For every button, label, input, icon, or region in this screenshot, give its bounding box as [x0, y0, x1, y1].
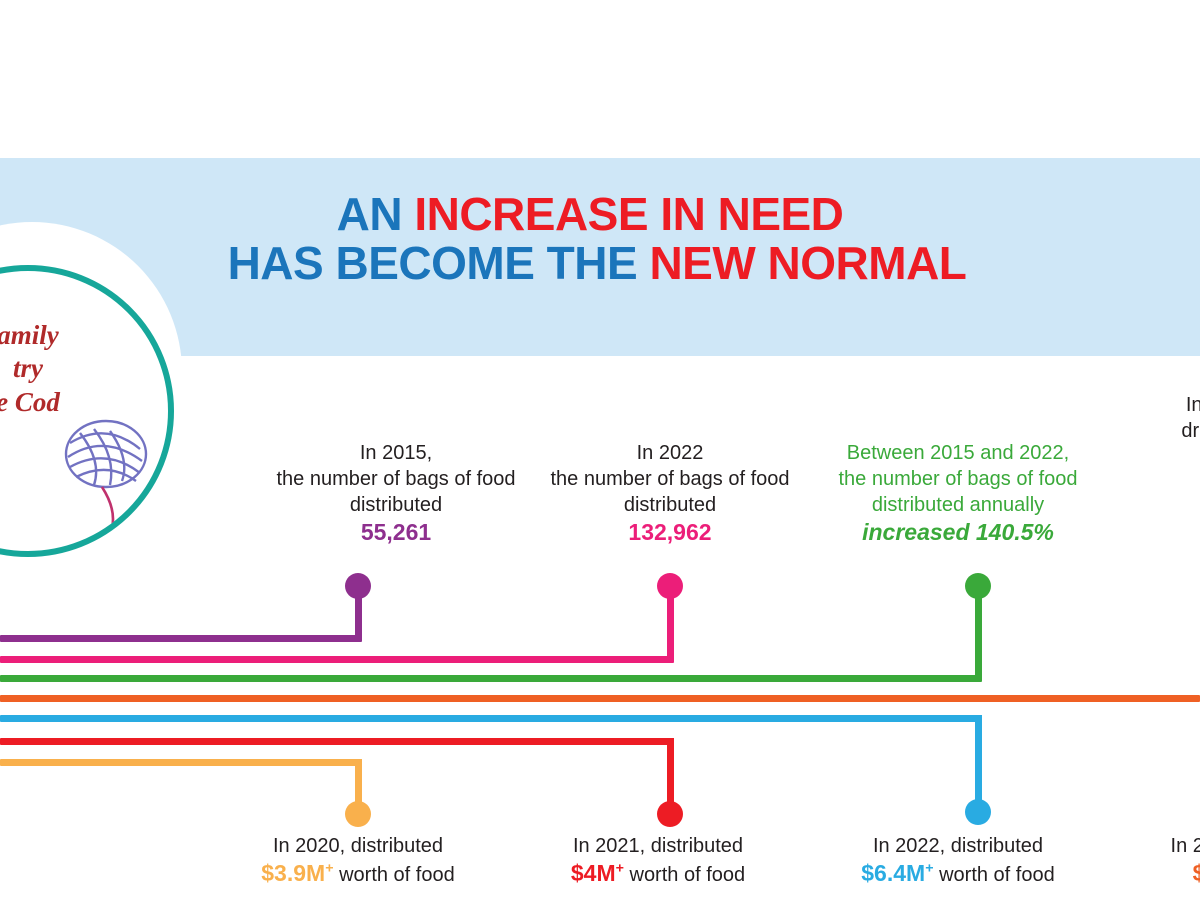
food-2020-rail — [0, 759, 362, 766]
childs-drawing-art — [0, 271, 168, 551]
bags-2022-dot — [657, 573, 683, 599]
increase-dot — [965, 573, 991, 599]
organization-logo: amily try e Cod — [0, 265, 174, 557]
headline-banner — [0, 158, 1200, 356]
callout-food-2023: In 2023, d $7.5 — [1015, 833, 1200, 889]
callout-food-2020-amount-sup: + — [325, 860, 333, 876]
callout-food-2021-amount: $4M+ — [571, 860, 624, 886]
callout-food-2021-amount-sup: + — [616, 860, 624, 876]
increase-rail — [0, 675, 982, 682]
yarn-string-icon — [93, 487, 113, 551]
food-2023-rail — [0, 695, 1200, 702]
bags-2015-dot — [345, 573, 371, 599]
callout-food-2023-amount-text: $7.5 — [1193, 860, 1200, 886]
callout-2023-line1: In 2023, — [1002, 392, 1200, 418]
increase-stem — [975, 588, 982, 678]
food-2021-dot — [657, 801, 683, 827]
callout-food-2023-amount-line: $7.5 — [1015, 859, 1200, 889]
callout-food-2020-suffix: worth of food — [334, 864, 455, 886]
food-2022-rail — [0, 715, 982, 722]
bags-2022-rail — [0, 656, 674, 663]
callout-food-2023-prefix: In 2023, d — [1015, 833, 1200, 859]
callout-food-2021-suffix: worth of food — [624, 864, 745, 886]
callout-food-2022-amount: $6.4M+ — [861, 860, 933, 886]
food-2020-dot — [345, 801, 371, 827]
callout-2023-driving: In 2023, driving th b — [1002, 392, 1200, 496]
infographic-canvas: AN INCREASE IN NEED HAS BECOME THE NEW N… — [0, 0, 1200, 900]
callout-2023-spacer — [1002, 444, 1200, 470]
callout-food-2022-amount-sup: + — [925, 860, 933, 876]
food-2021-rail — [0, 738, 674, 745]
callout-2023-line3: b — [1002, 470, 1200, 496]
callout-food-2020-amount: $3.9M+ — [261, 860, 333, 886]
callout-food-2021-amount-text: $4M — [571, 860, 616, 886]
scribble-ball-icon — [66, 421, 146, 487]
callout-2023-line2: driving th — [1002, 418, 1200, 444]
callout-food-2023-amount: $7.5 — [1193, 860, 1200, 886]
food-2022-stem — [975, 715, 982, 810]
callout-increase-value: increased 140.5% — [738, 518, 1178, 548]
callout-food-2022-amount-text: $6.4M — [861, 860, 925, 886]
callout-food-2020-amount-text: $3.9M — [261, 860, 325, 886]
food-2022-dot — [965, 799, 991, 825]
bags-2015-rail — [0, 635, 362, 642]
